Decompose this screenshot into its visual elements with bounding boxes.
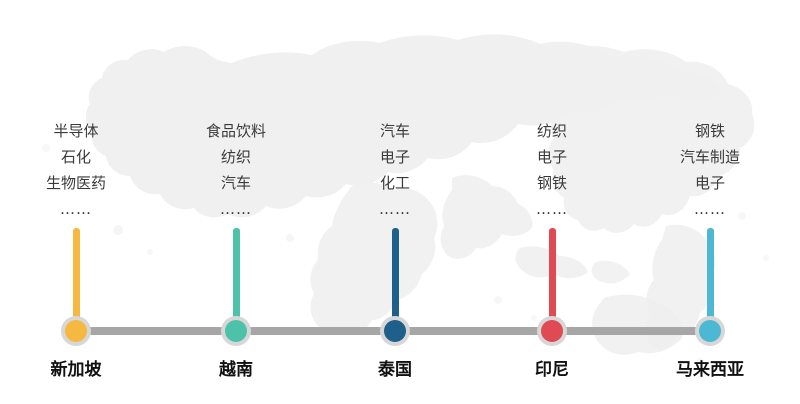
station-country-label: 马来西亚	[620, 355, 800, 380]
industry-item: 汽车	[146, 170, 326, 196]
timeline-chart: 半导体 石化 生物医药 …… 新加坡 食品饮料 纺织 汽车 …… 越南 汽车 电…	[0, 0, 800, 404]
industry-item: 电子	[462, 144, 642, 170]
station-dot[interactable]	[225, 320, 247, 342]
industry-item: 电子	[620, 170, 800, 196]
station-country-label: 越南	[146, 355, 326, 380]
industry-item: 石化	[0, 144, 166, 170]
station-country-label: 新加坡	[0, 355, 166, 380]
industry-ellipsis: ……	[305, 196, 485, 222]
industry-item: 食品饮料	[146, 118, 326, 144]
industry-ellipsis: ……	[620, 196, 800, 222]
station-dot[interactable]	[65, 320, 87, 342]
industry-ellipsis: ……	[146, 196, 326, 222]
station-country-label: 泰国	[305, 355, 485, 380]
industry-item: 化工	[305, 170, 485, 196]
station-dot[interactable]	[384, 320, 406, 342]
station-country-label: 印尼	[462, 355, 642, 380]
industry-item: 钢铁	[620, 118, 800, 144]
industry-item: 汽车	[305, 118, 485, 144]
industry-item: 汽车制造	[620, 144, 800, 170]
station-dot[interactable]	[541, 320, 563, 342]
industry-item: 钢铁	[462, 170, 642, 196]
industry-item: 纺织	[146, 144, 326, 170]
industry-item: 生物医药	[0, 170, 166, 196]
industry-list-singapore: 半导体 石化 生物医药 ……	[0, 118, 166, 222]
industry-list-vietnam: 食品饮料 纺织 汽车 ……	[146, 118, 326, 222]
industry-item: 电子	[305, 144, 485, 170]
industry-list-indonesia: 纺织 电子 钢铁 ……	[462, 118, 642, 222]
industry-ellipsis: ……	[0, 196, 166, 222]
industry-item: 半导体	[0, 118, 166, 144]
industry-list-malaysia: 钢铁 汽车制造 电子 ……	[620, 118, 800, 222]
industry-list-thailand: 汽车 电子 化工 ……	[305, 118, 485, 222]
industry-ellipsis: ……	[462, 196, 642, 222]
station-dot[interactable]	[699, 320, 721, 342]
industry-item: 纺织	[462, 118, 642, 144]
